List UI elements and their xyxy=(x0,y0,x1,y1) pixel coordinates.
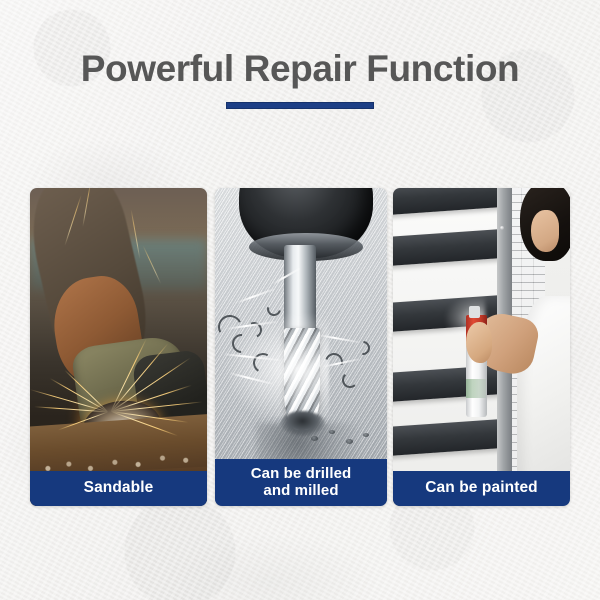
promo-banner: Powerful Repair Function xyxy=(0,0,600,600)
page-title: Powerful Repair Function xyxy=(0,46,600,92)
person-spray-painting-louvers-photo xyxy=(393,188,570,506)
angle-grinder-sparks-photo xyxy=(30,188,207,506)
feature-panel-painted[interactable]: Can be painted xyxy=(393,188,570,506)
panel-caption-drilled-milled: Can be drilled and milled xyxy=(215,459,387,506)
heading-block: Powerful Repair Function xyxy=(0,46,600,109)
title-underline-rule xyxy=(226,102,374,109)
panel-caption-line-1: Can be drilled xyxy=(219,465,383,482)
panel-caption-painted: Can be painted xyxy=(393,471,570,506)
panel-caption-sandable: Sandable xyxy=(30,471,207,506)
feature-panel-row: Sandable xyxy=(30,188,570,506)
feature-panel-drilled-milled[interactable]: Can be drilled and milled xyxy=(215,188,387,506)
feature-panel-sandable[interactable]: Sandable xyxy=(30,188,207,506)
panel-caption-line-2: and milled xyxy=(219,482,383,499)
